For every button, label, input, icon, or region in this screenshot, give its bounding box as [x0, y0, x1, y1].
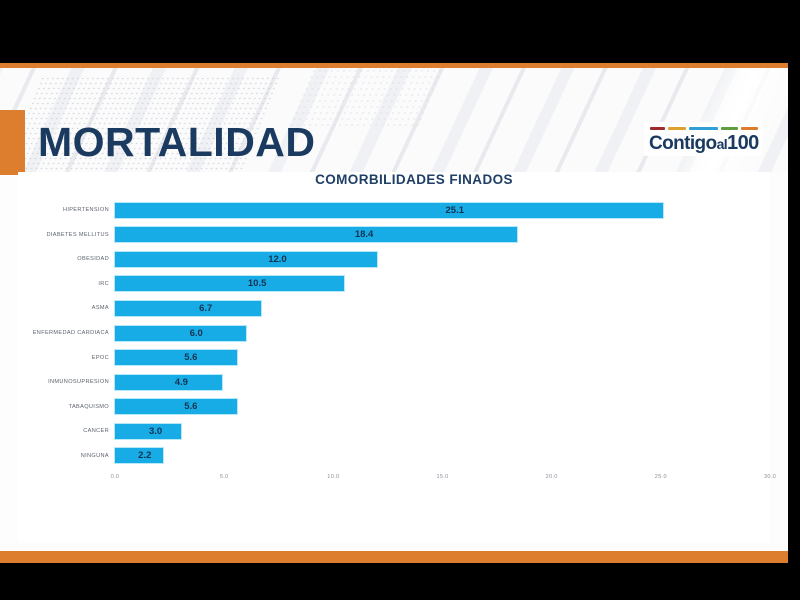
- x-axis-tick-label: 0.0: [111, 474, 120, 480]
- bar: [115, 424, 181, 439]
- x-axis-tick-label: 25.0: [655, 474, 667, 480]
- logo-dashes: [650, 127, 758, 131]
- bar: [115, 276, 344, 291]
- bar-row: ASMA6.7: [18, 296, 770, 321]
- bar: [115, 326, 246, 341]
- category-label: TABAQUISMO: [0, 404, 115, 410]
- bar-track: 25.1: [115, 203, 770, 218]
- bar: [115, 227, 517, 242]
- bar-track: 10.5: [115, 276, 770, 291]
- page-title: MORTALIDAD: [38, 122, 316, 163]
- bar-rows: HIPERTENSION25.1DIABETES MELLITUS18.4OBE…: [18, 198, 770, 468]
- footer-orange-band: [0, 551, 788, 563]
- logo-dash-blue: [689, 127, 718, 130]
- category-label: HIPERTENSION: [0, 207, 115, 213]
- bar: [115, 203, 663, 218]
- category-label: NINGUNA: [0, 453, 115, 459]
- bar-row: DIABETES MELLITUS18.4: [18, 223, 770, 248]
- logo-dash-red: [650, 127, 665, 130]
- bar-value-label: 5.6: [184, 350, 197, 365]
- presentation-slide: MORTALIDAD Contigoal100 COMORBILIDADES F…: [0, 68, 788, 563]
- bar-value-label: 10.5: [248, 276, 267, 291]
- category-label: IRC: [0, 281, 115, 287]
- bar: [115, 375, 222, 390]
- bar: [115, 252, 377, 267]
- bar-track: 4.9: [115, 375, 770, 390]
- category-label: ENFERMEDAD CARDIACA: [0, 330, 115, 336]
- slide-screenshot: MORTALIDAD Contigoal100 COMORBILIDADES F…: [0, 0, 800, 600]
- bar: [115, 301, 261, 316]
- bar-track: 5.6: [115, 350, 770, 365]
- logo-text-contigo: Contigo: [649, 133, 717, 154]
- chart-title: COMORBILIDADES FINADOS: [18, 172, 770, 187]
- logo-text-100: 100: [727, 132, 759, 154]
- bar-row: IRC10.5: [18, 272, 770, 297]
- logo-dash-green: [721, 127, 738, 130]
- bar-track: 18.4: [115, 227, 770, 242]
- x-axis-tick-label: 10.0: [327, 474, 339, 480]
- x-axis: 0.05.010.015.020.025.030.0: [115, 474, 770, 490]
- bar-value-label: 5.6: [184, 399, 197, 414]
- x-axis-tick-label: 30.0: [764, 474, 776, 480]
- chart-container: COMORBILIDADES FINADOS HIPERTENSION25.1D…: [18, 172, 770, 542]
- category-label: EPOC: [0, 355, 115, 361]
- category-label: INMUNOSUPRESION: [0, 379, 115, 385]
- bar-track: 5.6: [115, 399, 770, 414]
- bar-row: HIPERTENSION25.1: [18, 198, 770, 223]
- x-axis-tick-label: 20.0: [546, 474, 558, 480]
- bar-value-label: 6.7: [199, 301, 212, 316]
- bar-value-label: 12.0: [268, 252, 287, 267]
- category-label: OBESIDAD: [0, 256, 115, 262]
- logo-text-al: al: [717, 136, 727, 152]
- bar-value-label: 18.4: [355, 227, 374, 242]
- chart-plot-area: HIPERTENSION25.1DIABETES MELLITUS18.4OBE…: [18, 198, 770, 516]
- bar-row: CANCER3.0: [18, 419, 770, 444]
- bar-value-label: 2.2: [138, 448, 151, 463]
- bar-row: NINGUNA2.2: [18, 443, 770, 468]
- bar-row: TABAQUISMO5.6: [18, 394, 770, 419]
- bar-track: 6.7: [115, 301, 770, 316]
- logo-wordmark: Contigoal100: [649, 133, 758, 154]
- bar: [115, 350, 237, 365]
- bar-value-label: 3.0: [149, 424, 162, 439]
- category-label: ASMA: [0, 305, 115, 311]
- x-axis-tick-label: 5.0: [220, 474, 229, 480]
- bar: [115, 399, 237, 414]
- bar-row: EPOC5.6: [18, 345, 770, 370]
- bar-row: ENFERMEDAD CARDIACA6.0: [18, 321, 770, 346]
- bar-value-label: 25.1: [446, 203, 465, 218]
- x-axis-tick-label: 15.0: [436, 474, 448, 480]
- category-label: CANCER: [0, 428, 115, 434]
- sheen-decoration: [608, 68, 788, 173]
- bar-track: 2.2: [115, 448, 770, 463]
- logo-dash-yellow: [668, 127, 686, 130]
- bar-track: 3.0: [115, 424, 770, 439]
- bar-row: INMUNOSUPRESION4.9: [18, 370, 770, 395]
- bar-row: OBESIDAD12.0: [18, 247, 770, 272]
- left-orange-accent-block: [0, 110, 25, 175]
- category-label: DIABETES MELLITUS: [0, 232, 115, 238]
- right-letterbox: [788, 0, 800, 600]
- bar-value-label: 4.9: [175, 375, 188, 390]
- logo-dash-orange: [741, 127, 758, 130]
- contigo-al-100-logo: Contigoal100: [644, 122, 762, 156]
- bar-track: 6.0: [115, 326, 770, 341]
- bar-track: 12.0: [115, 252, 770, 267]
- bar-value-label: 6.0: [190, 326, 203, 341]
